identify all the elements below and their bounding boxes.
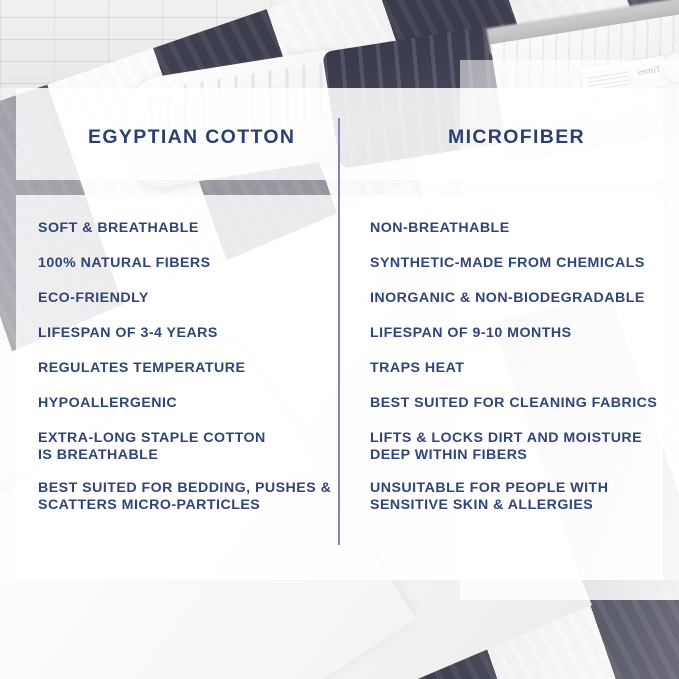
list-item: SYNTHETIC-MADE FROM CHEMICALS	[370, 255, 665, 272]
list-item: NON-BREATHABLE	[370, 220, 665, 237]
column-divider	[338, 118, 340, 545]
list-item: ECO-FRIENDLY	[38, 290, 333, 307]
list-item: LIFTS & LOCKS DIRT AND MOISTURE DEEP WIT…	[370, 430, 665, 464]
list-item: LIFESPAN OF 9-10 MONTHS	[370, 325, 665, 342]
list-item: HYPOALLERGENIC	[38, 395, 333, 412]
list-item: SOFT & BREATHABLE	[38, 220, 333, 237]
column-list-egyptian-cotton: SOFT & BREATHABLE 100% NATURAL FIBERS EC…	[38, 220, 333, 530]
list-item: TRAPS HEAT	[370, 360, 665, 377]
list-item: INORGANIC & NON-BIODEGRADABLE	[370, 290, 665, 307]
infographic-canvas: Times EGYPTIAN COTTON MICROFIBER SOFT & …	[0, 0, 679, 679]
list-item: REGULATES TEMPERATURE	[38, 360, 333, 377]
list-item: EXTRA-LONG STAPLE COTTON IS BREATHABLE	[38, 430, 333, 464]
list-item: BEST SUITED FOR CLEANING FABRICS	[370, 395, 665, 412]
column-heading-microfiber: MICROFIBER	[448, 126, 585, 149]
comparison-content: EGYPTIAN COTTON MICROFIBER SOFT & BREATH…	[0, 0, 679, 679]
list-item: UNSUITABLE FOR PEOPLE WITH SENSITIVE SKI…	[370, 480, 665, 514]
column-list-microfiber: NON-BREATHABLE SYNTHETIC-MADE FROM CHEMI…	[370, 220, 665, 530]
list-item: 100% NATURAL FIBERS	[38, 255, 333, 272]
column-heading-egyptian-cotton: EGYPTIAN COTTON	[88, 126, 295, 149]
list-item: BEST SUITED FOR BEDDING, PUSHES & SCATTE…	[38, 480, 333, 514]
list-item: LIFESPAN OF 3-4 YEARS	[38, 325, 333, 342]
